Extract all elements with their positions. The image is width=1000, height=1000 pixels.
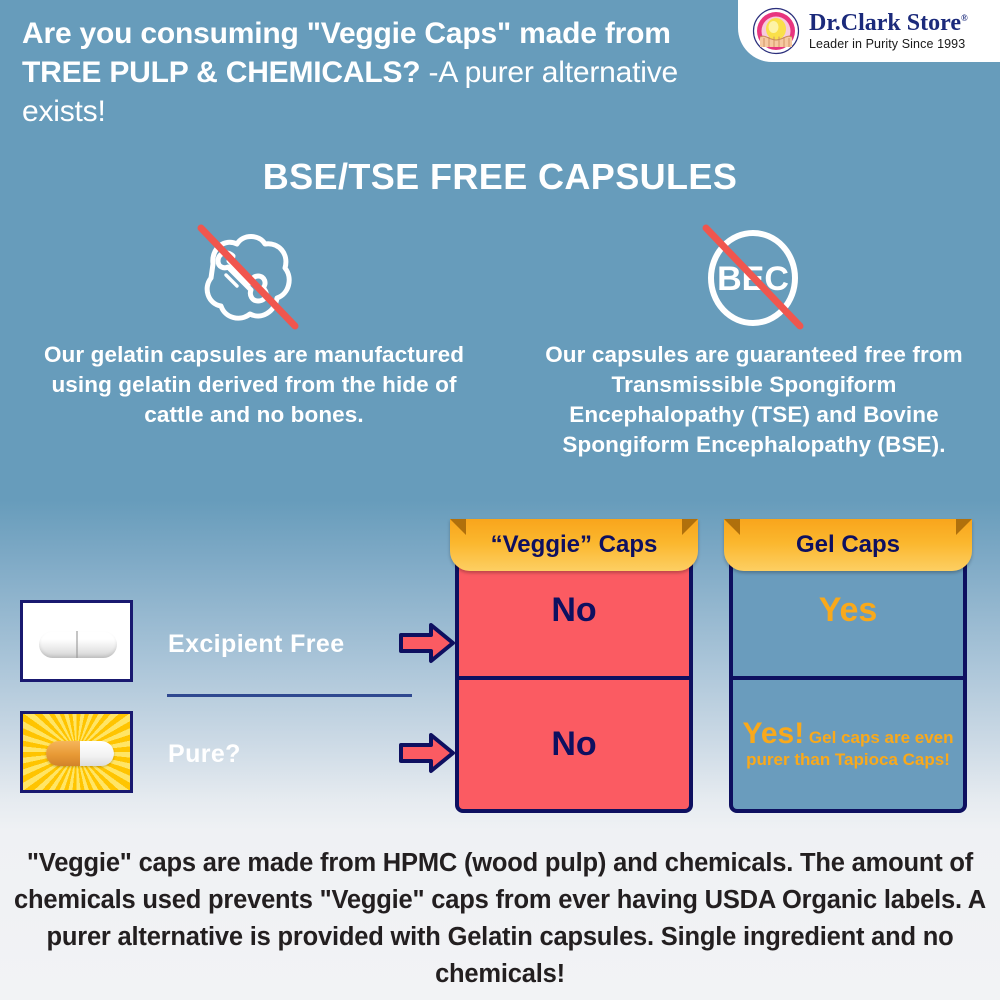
cell-veggie-pure: No (459, 676, 689, 809)
blurb-no-bones: Our gelatin capsules are manufactured us… (38, 340, 470, 430)
row-divider (167, 694, 412, 697)
arrow-right-icon (398, 621, 456, 665)
blurb-bse-tse-free: Our capsules are guaranteed free from Tr… (528, 340, 980, 460)
capsule-icon (39, 631, 117, 658)
logo-text-block: Dr.Clark Store® Leader in Purity Since 1… (809, 11, 968, 51)
cell-value-group: Yes! Gel caps are even purer than Tapioc… (733, 719, 963, 770)
column-header-label: Gel Caps (796, 531, 900, 559)
column-gel-caps: Yes Yes! Gel caps are even purer than Ta… (729, 541, 967, 813)
row-label-pure: Pure? (168, 740, 241, 769)
section-title: BSE/TSE FREE CAPSULES (0, 156, 1000, 198)
thumbnail-sunburst-capsule (20, 711, 133, 793)
banner-fold-left-icon (450, 519, 466, 535)
banner-fold-left-icon (724, 519, 740, 535)
column-veggie-caps: No No (455, 541, 693, 813)
cell-value: No (551, 725, 596, 764)
cell-value: Yes (819, 591, 878, 630)
infographic-poster: Are you consuming "Veggie Caps" made fro… (0, 0, 1000, 1000)
logo-brand-name-text: Dr.Clark Store (809, 10, 961, 36)
arrow-right-icon (398, 731, 456, 775)
capsule-half-orange (46, 741, 81, 766)
column-header-veggie-caps: “Veggie” Caps (450, 519, 698, 571)
registered-mark: ® (961, 13, 968, 23)
capsule-half-white (80, 741, 114, 766)
thumbnail-white-capsule (20, 600, 133, 682)
cell-gel-pure: Yes! Gel caps are even purer than Tapioc… (733, 676, 963, 809)
banner-fold-right-icon (682, 519, 698, 535)
logo-tagline: Leader in Purity Since 1993 (809, 38, 968, 51)
headline: Are you consuming "Veggie Caps" made fro… (22, 14, 742, 131)
row-label-excipient-free: Excipient Free (168, 630, 345, 659)
capsule-icon (46, 741, 114, 766)
column-header-label: “Veggie” Caps (491, 531, 658, 559)
column-header-gel-caps: Gel Caps (724, 519, 972, 571)
no-bec-icon: BEC (698, 222, 808, 332)
brand-logo: Dr.Clark Store® Leader in Purity Since 1… (738, 0, 1000, 62)
banner-fold-right-icon (956, 519, 972, 535)
cell-value: No (551, 591, 596, 630)
footer-disclaimer: "Veggie" caps are made from HPMC (wood p… (14, 845, 986, 993)
no-bones-icon (193, 222, 303, 332)
logo-brand-name: Dr.Clark Store® (809, 11, 968, 35)
sun-in-hands-icon (752, 7, 800, 55)
cell-value: Yes! (742, 717, 804, 750)
